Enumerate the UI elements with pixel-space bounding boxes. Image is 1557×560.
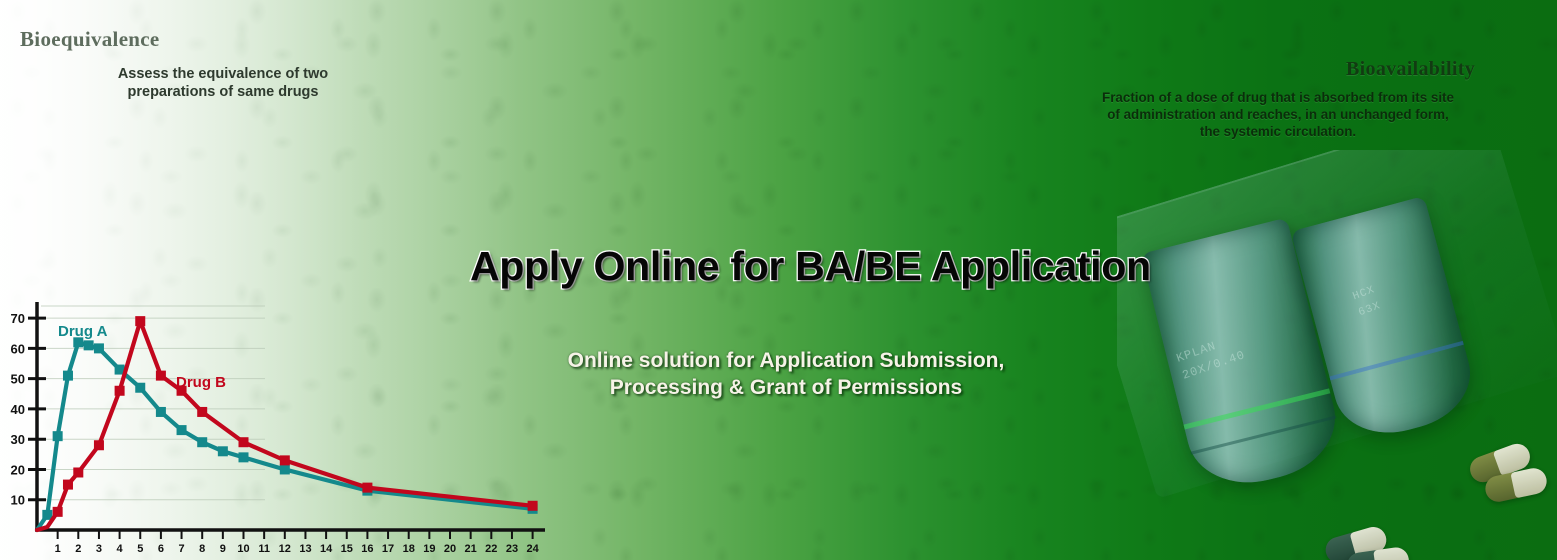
- bioequivalence-description-line-2: preparations of same drugs: [68, 84, 378, 102]
- data-point-drug-a: [218, 446, 228, 456]
- y-tick-label: 40: [11, 402, 25, 417]
- capsule-icon: [1466, 440, 1533, 486]
- x-tick-label: 1: [55, 543, 61, 555]
- data-point-drug-b: [156, 371, 166, 381]
- data-point-drug-a: [135, 383, 145, 393]
- x-tick-label: 24: [526, 543, 539, 555]
- x-tick-label: 18: [403, 543, 415, 555]
- pk-chart-svg: 1020304050607012345678910111213141516171…: [0, 296, 560, 560]
- series-line-drug-a: [37, 342, 533, 530]
- lens-etch-line-1: KPLAN: [1174, 308, 1303, 367]
- x-tick-label: 10: [237, 543, 249, 555]
- data-point-drug-b: [135, 316, 145, 326]
- data-point-drug-b: [53, 507, 63, 517]
- lens-green-band: [1184, 388, 1331, 429]
- y-tick-label: 20: [11, 462, 25, 477]
- data-point-drug-a: [84, 340, 94, 350]
- data-point-drug-b: [63, 480, 73, 490]
- data-point-drug-b: [94, 440, 104, 450]
- capsule-icon: [1323, 524, 1390, 560]
- data-point-drug-a: [239, 452, 249, 462]
- bioavailability-description-line-2: of administration and reaches, in an unc…: [1083, 107, 1473, 124]
- x-tick-label: 13: [299, 543, 311, 555]
- bioequivalence-description-line-1: Assess the equivalence of two: [68, 66, 378, 84]
- bioavailability-description: Fraction of a dose of drug that is absor…: [1083, 90, 1473, 140]
- x-tick-label: 17: [382, 543, 394, 555]
- y-tick-label: 50: [11, 372, 25, 387]
- data-point-drug-b: [73, 467, 83, 477]
- x-tick-label: 20: [444, 543, 456, 555]
- series-line-drug-b: [37, 321, 533, 530]
- lens-blue-band: [1329, 341, 1463, 381]
- y-tick-label: 10: [11, 493, 25, 508]
- x-tick-label: 21: [465, 543, 477, 555]
- x-tick-label: 8: [199, 543, 205, 555]
- x-tick-label: 4: [117, 543, 124, 555]
- data-point-drug-a: [94, 343, 104, 353]
- capsule-icon: [1345, 546, 1410, 560]
- data-point-drug-b: [239, 437, 249, 447]
- data-point-drug-b: [115, 386, 125, 396]
- bioequivalence-description: Assess the equivalence of two preparatio…: [68, 66, 378, 101]
- x-tick-label: 2: [75, 543, 81, 555]
- lens-etch-line-4: 63X: [1356, 275, 1446, 321]
- x-tick-label: 11: [258, 543, 270, 555]
- data-point-drug-a: [156, 407, 166, 417]
- x-tick-label: 9: [220, 543, 226, 555]
- microscope-imagery: KPLAN 20X/0.40 HCX 63X: [1117, 150, 1557, 560]
- bioequivalence-title: Bioequivalence: [20, 27, 160, 52]
- x-tick-label: 14: [320, 543, 333, 555]
- x-tick-label: 6: [158, 543, 164, 555]
- x-tick-label: 3: [96, 543, 102, 555]
- y-tick-label: 30: [11, 432, 25, 447]
- y-tick-label: 70: [11, 311, 25, 326]
- x-tick-label: 23: [506, 543, 518, 555]
- data-point-drug-b: [362, 483, 372, 493]
- x-tick-label: 5: [137, 543, 143, 555]
- microscope-objective-lens-2: HCX 63X: [1291, 196, 1482, 446]
- x-tick-label: 12: [279, 543, 291, 555]
- series-label-drug-b: Drug B: [176, 374, 226, 391]
- lens-etch-line-3: HCX: [1351, 259, 1441, 305]
- data-point-drug-a: [63, 371, 73, 381]
- lens-etching-1: KPLAN 20X/0.40: [1174, 308, 1309, 384]
- data-point-drug-a: [197, 437, 207, 447]
- x-tick-label: 15: [341, 543, 353, 555]
- bioavailability-description-line-3: the systemic circulation.: [1083, 124, 1473, 141]
- x-tick-label: 22: [485, 543, 497, 555]
- microscope-objective-lens-1: KPLAN 20X/0.40: [1141, 218, 1347, 497]
- banner-root: KPLAN 20X/0.40 HCX 63X Bioequivalence As…: [0, 0, 1557, 560]
- page-title: Apply Online for BA/BE Application: [470, 243, 1151, 290]
- pharmacokinetic-chart: 1020304050607012345678910111213141516171…: [0, 296, 560, 560]
- series-label-drug-a: Drug A: [58, 323, 108, 340]
- lens-etching-2: HCX 63X: [1351, 259, 1447, 321]
- data-point-drug-b: [280, 455, 290, 465]
- glass-slide: [1117, 150, 1557, 499]
- data-point-drug-a: [177, 425, 187, 435]
- x-tick-label: 19: [423, 543, 435, 555]
- y-tick-label: 60: [11, 341, 25, 356]
- bioavailability-title: Bioavailability: [1346, 58, 1475, 81]
- bioavailability-description-line-1: Fraction of a dose of drug that is absor…: [1083, 90, 1473, 107]
- data-point-drug-b: [197, 407, 207, 417]
- data-point-drug-a: [53, 431, 63, 441]
- x-tick-label: 16: [361, 543, 373, 555]
- data-point-drug-a: [280, 464, 290, 474]
- data-point-drug-b: [528, 501, 538, 511]
- lens-etch-line-2: 20X/0.40: [1180, 325, 1309, 384]
- lens-dark-band: [1190, 416, 1336, 455]
- capsule-icon: [1483, 466, 1549, 504]
- x-tick-label: 7: [178, 543, 184, 555]
